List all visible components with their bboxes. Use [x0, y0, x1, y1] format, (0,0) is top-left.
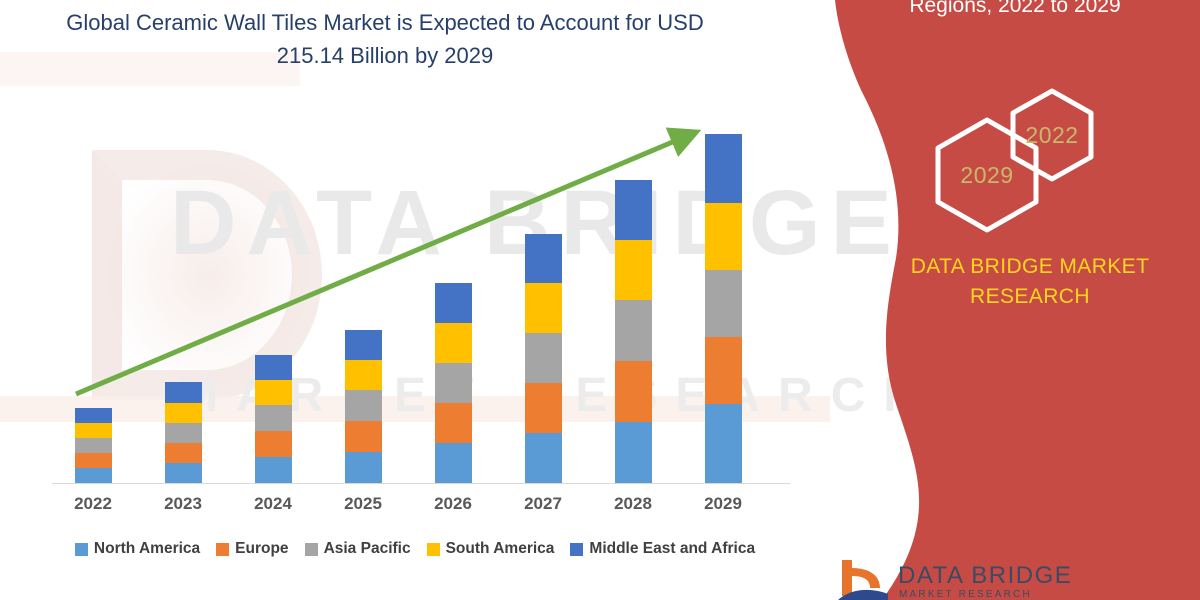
bar-segment [435, 443, 472, 483]
x-axis-label-2024: 2024 [233, 494, 313, 514]
legend-item-middle-east-and-africa[interactable]: Middle East and Africa [570, 540, 755, 558]
bar-segment [75, 423, 112, 438]
bar-segment [435, 323, 472, 363]
bar-segment [615, 422, 652, 483]
bar-segment [525, 433, 562, 483]
x-axis-labels: 20222023202420252026202720282029 [0, 494, 830, 522]
company-logo-subtext: MARKET RESEARCH [899, 589, 1032, 600]
bar-segment [615, 180, 652, 240]
hexagon-end-year-label: 2029 [960, 162, 1013, 189]
legend-label: North America [94, 540, 200, 558]
bar-segment [705, 203, 742, 270]
bar-segment [705, 270, 742, 337]
brand-name-line-2: RESEARCH [970, 285, 1090, 308]
bar-2028 [615, 180, 652, 483]
panel-heading-line-2: Regions, 2022 to 2029 [830, 0, 1200, 20]
year-hexagon-group: 2029 2022 [920, 88, 1130, 248]
bar-segment [525, 383, 562, 433]
bar-2029 [705, 134, 742, 483]
brand-name: DATA BRIDGE MARKET RESEARCH [880, 252, 1180, 312]
bar-segment [75, 468, 112, 483]
brand-name-line-1: DATA BRIDGE MARKET [911, 255, 1150, 278]
legend-label: Asia Pacific [324, 540, 411, 558]
bar-segment [345, 330, 382, 360]
bar-2022 [75, 408, 112, 483]
x-axis-label-2023: 2023 [143, 494, 223, 514]
bar-2025 [345, 330, 382, 483]
legend-item-europe[interactable]: Europe [216, 540, 288, 558]
bar-2026 [435, 283, 472, 483]
bar-segment [435, 403, 472, 443]
bar-segment [435, 283, 472, 323]
company-logo: DATA BRIDGE MARKET RESEARCH [836, 556, 1076, 600]
legend-swatch-icon [216, 543, 229, 556]
bar-segment [165, 403, 202, 423]
bar-segment [255, 431, 292, 457]
bar-segment [255, 380, 292, 405]
bar-segment [165, 382, 202, 403]
bar-segment [525, 283, 562, 333]
bridge-logo-mark [836, 556, 894, 600]
bar-segment [255, 355, 292, 380]
legend-item-south-america[interactable]: South America [427, 540, 555, 558]
chart-legend: North AmericaEuropeAsia PacificSouth Ame… [0, 540, 830, 558]
legend-label: Middle East and Africa [589, 540, 755, 558]
legend-item-north-america[interactable]: North America [75, 540, 200, 558]
bar-segment [345, 421, 382, 452]
x-axis-line [52, 483, 790, 484]
legend-label: South America [446, 540, 555, 558]
bar-segment [165, 443, 202, 463]
hexagon-start-year-label: 2022 [1025, 122, 1078, 149]
bar-segment [525, 333, 562, 383]
bar-segment [345, 452, 382, 483]
bar-segment [75, 453, 112, 468]
company-logo-wordmark: DATA BRIDGE [898, 562, 1072, 590]
bar-2027 [525, 234, 562, 483]
bar-segment [615, 240, 652, 300]
bar-segment [525, 234, 562, 283]
bar-segment [435, 363, 472, 403]
bar-segment [165, 463, 202, 483]
infographic-canvas: DATA BRIDGE MARKET RESEARCH Global Ceram… [0, 0, 1200, 600]
bar-segment [345, 360, 382, 390]
bar-segment [255, 457, 292, 483]
bar-segment [345, 390, 382, 421]
x-axis-label-2026: 2026 [413, 494, 493, 514]
legend-label: Europe [235, 540, 288, 558]
panel-heading: Regions, 2022 to 2029 [830, 0, 1200, 20]
x-axis-label-2027: 2027 [503, 494, 583, 514]
bar-2023 [165, 382, 202, 483]
x-axis-label-2029: 2029 [683, 494, 763, 514]
legend-swatch-icon [570, 543, 583, 556]
legend-item-asia-pacific[interactable]: Asia Pacific [305, 540, 411, 558]
bar-segment [75, 438, 112, 453]
x-axis-label-2028: 2028 [593, 494, 673, 514]
x-axis-label-2022: 2022 [53, 494, 133, 514]
legend-swatch-icon [75, 543, 88, 556]
hexagon-badge-start-year: 2022 [1008, 88, 1096, 182]
bar-segment [165, 423, 202, 443]
bar-segment [615, 300, 652, 361]
bar-segment [705, 404, 742, 483]
legend-swatch-icon [305, 543, 318, 556]
x-axis-label-2025: 2025 [323, 494, 403, 514]
bar-segment [615, 361, 652, 422]
legend-swatch-icon [427, 543, 440, 556]
bar-segment [75, 408, 112, 423]
bar-segment [705, 337, 742, 404]
bar-segment [255, 405, 292, 431]
bar-segment [705, 134, 742, 203]
chart-plot-area: 20222023202420252026202720282029 [0, 0, 830, 600]
bar-2024 [255, 355, 292, 483]
